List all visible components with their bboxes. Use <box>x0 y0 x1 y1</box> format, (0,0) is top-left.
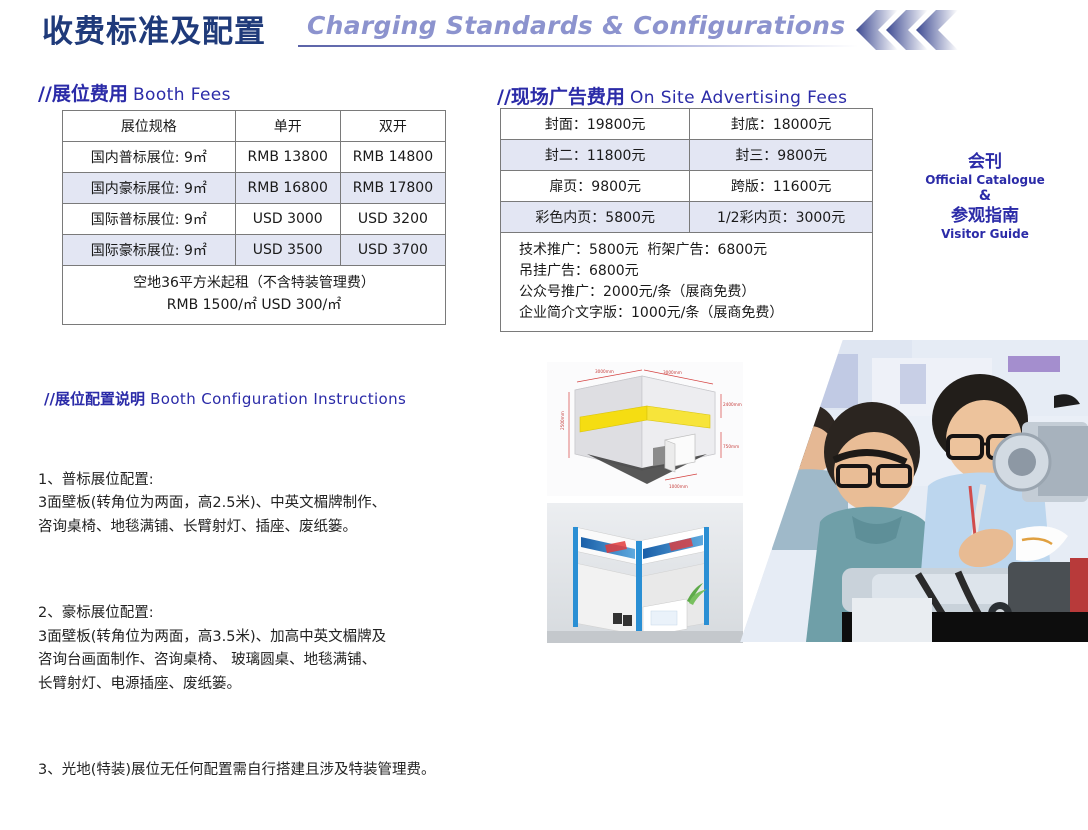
slide-page: 收费标准及配置 Charging Standards & Configurati… <box>0 0 1088 667</box>
table-row: 封面：19800元 封底：18000元 <box>501 109 873 140</box>
table-cell: 国际普标展位: 9㎡ <box>63 204 236 235</box>
note-line-1: 空地36平方米起租（不含特装管理费） <box>67 273 441 295</box>
config-paragraph-2: 2、豪标展位配置: 3面壁板(转角位为两面，高3.5米)、加高中英文楣牌及 咨询… <box>38 602 508 696</box>
table-cell: USD 3500 <box>235 235 340 266</box>
column-header: 单开 <box>235 111 340 142</box>
table-cell: 扉页：9800元 <box>501 171 690 202</box>
page-title-en: Charging Standards & Configurations <box>307 11 845 40</box>
table-cell: USD 3700 <box>340 235 445 266</box>
table-cell: 国内普标展位: 9㎡ <box>63 142 236 173</box>
table-note-row: 空地36平方米起租（不含特装管理费） RMB 1500/㎡ USD 300/㎡ <box>63 266 446 325</box>
config-paragraph-3: 3、光地(特装)展位无任何配置需自行搭建且涉及特装管理费。 <box>38 759 508 782</box>
heading-cn: //展位费用 <box>38 83 128 105</box>
table-cell: 国际豪标展位: 9㎡ <box>63 235 236 266</box>
heading-cn: //现场广告费用 <box>497 86 625 108</box>
table-row: 国内普标展位: 9㎡ RMB 13800 RMB 14800 <box>63 142 446 173</box>
table-cell: RMB 17800 <box>340 173 445 204</box>
catalogue-title-cn: 会刊 <box>905 152 1065 173</box>
standard-booth-3d-diagram: 3000mm 3000mm 2400mm 750mm 1000mm 2500mm <box>547 362 743 496</box>
double-deck-booth-render <box>547 503 743 643</box>
section-heading-advertising-fees: //现场广告费用 On Site Advertising Fees <box>497 82 847 109</box>
heading-en: Booth Fees <box>133 85 231 105</box>
page-title-cn: 收费标准及配置 <box>42 6 266 51</box>
table-cell: 1/2彩内页：3000元 <box>690 202 873 233</box>
booth-fees-table: 展位规格 单开 双开 国内普标展位: 9㎡ RMB 13800 RMB 1480… <box>62 110 446 325</box>
table-cell: RMB 14800 <box>340 142 445 173</box>
catalogue-ampersand: & <box>905 188 1065 206</box>
table-cell: 封底：18000元 <box>690 109 873 140</box>
table-cell: 国内豪标展位: 9㎡ <box>63 173 236 204</box>
table-cell: RMB 16800 <box>235 173 340 204</box>
table-row: 彩色内页：5800元 1/2彩内页：3000元 <box>501 202 873 233</box>
heading-en: On Site Advertising Fees <box>630 88 847 108</box>
table-cell: 封面：19800元 <box>501 109 690 140</box>
visitor-guide-title-cn: 参观指南 <box>905 206 1065 227</box>
column-header: 双开 <box>340 111 445 142</box>
section-heading-booth-configuration: //展位配置说明 Booth Configuration Instruction… <box>44 388 406 409</box>
column-header: 展位规格 <box>63 111 236 142</box>
table-row: 封二：11800元 封三：9800元 <box>501 140 873 171</box>
table-row: 扉页：9800元 跨版：11600元 <box>501 171 873 202</box>
section-heading-booth-fees: //展位费用 Booth Fees <box>38 79 231 106</box>
svg-text:750mm: 750mm <box>723 444 739 449</box>
catalogue-block: 会刊 Official Catalogue & 参观指南 Visitor Gui… <box>905 152 1065 242</box>
visitor-guide-title-en: Visitor Guide <box>905 227 1065 242</box>
table-row: 国际普标展位: 9㎡ USD 3000 USD 3200 <box>63 204 446 235</box>
table-header-row: 展位规格 单开 双开 <box>63 111 446 142</box>
page-header: 收费标准及配置 Charging Standards & Configurati… <box>0 0 1088 62</box>
table-cell: 封三：9800元 <box>690 140 873 171</box>
heading-cn: //展位配置说明 <box>44 390 145 408</box>
booth-fees-note: 空地36平方米起租（不含特装管理费） RMB 1500/㎡ USD 300/㎡ <box>63 266 446 325</box>
table-row: 国际豪标展位: 9㎡ USD 3500 USD 3700 <box>63 235 446 266</box>
advertising-fees-note: 技术推广：5800元 桁架广告：6800元 吊挂广告：6800元 公众号推广：2… <box>501 233 873 332</box>
svg-text:2400mm: 2400mm <box>723 402 742 407</box>
booth-configuration-text: 1、普标展位配置: 3面壁板(转角位为两面，高2.5米)、中英文楣牌制作、 咨询… <box>38 422 508 830</box>
exhibition-visitors-machinery-photo <box>722 340 1088 642</box>
svg-text:2500mm: 2500mm <box>560 411 565 430</box>
table-cell: 彩色内页：5800元 <box>501 202 690 233</box>
note-line-2: RMB 1500/㎡ USD 300/㎡ <box>67 295 441 317</box>
table-cell: 封二：11800元 <box>501 140 690 171</box>
table-cell: USD 3000 <box>235 204 340 235</box>
table-row: 国内豪标展位: 9㎡ RMB 16800 RMB 17800 <box>63 173 446 204</box>
title-underline <box>298 45 858 47</box>
svg-text:3000mm: 3000mm <box>663 370 682 375</box>
heading-en: Booth Configuration Instructions <box>150 390 406 408</box>
advertising-fees-table: 封面：19800元 封底：18000元 封二：11800元 封三：9800元 扉… <box>500 108 873 332</box>
catalogue-title-en: Official Catalogue <box>905 173 1065 188</box>
svg-text:3000mm: 3000mm <box>595 369 614 374</box>
config-paragraph-1: 1、普标展位配置: 3面壁板(转角位为两面，高2.5米)、中英文楣牌制作、 咨询… <box>38 469 508 539</box>
table-note-row: 技术推广：5800元 桁架广告：6800元 吊挂广告：6800元 公众号推广：2… <box>501 233 873 332</box>
triple-chevron-left-icon <box>856 8 966 52</box>
table-cell: USD 3200 <box>340 204 445 235</box>
table-cell: 跨版：11600元 <box>690 171 873 202</box>
table-cell: RMB 13800 <box>235 142 340 173</box>
svg-text:1000mm: 1000mm <box>669 484 688 489</box>
